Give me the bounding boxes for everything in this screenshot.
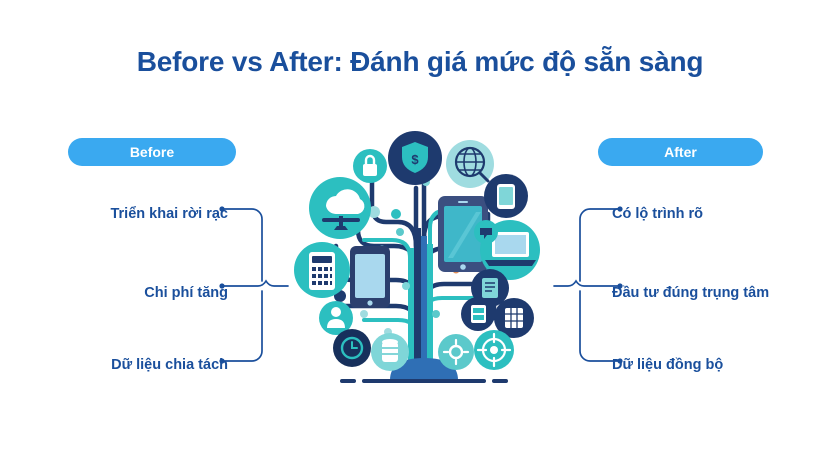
technology-tree-illustration: $ (278, 118, 568, 388)
before-pill: Before (68, 138, 236, 166)
before-item-2-label: Dữ liệu chia tách (111, 355, 228, 375)
lock-icon (353, 149, 387, 183)
slide-canvas: Before vs After: Đánh giá mức độ sẵn sàn… (0, 0, 840, 472)
database-icon (371, 333, 409, 371)
before-pill-label: Before (130, 144, 174, 160)
after-pill: After (598, 138, 763, 166)
after-item-0-label: Có lộ trình rõ (612, 204, 703, 224)
cloud-upload-icon (309, 177, 371, 239)
settings-icon (438, 334, 474, 370)
globe-search-icon (446, 140, 494, 188)
calculator-icon (294, 242, 350, 298)
tree-ground-line (362, 379, 486, 383)
page-title: Before vs After: Đánh giá mức độ sẵn sàn… (0, 46, 840, 78)
before-item-0-label: Triển khai rời rạc (110, 204, 228, 224)
after-item-1-label: Đầu tư đúng trụng tâm (612, 283, 769, 303)
tree-ground-dash-right (492, 379, 508, 383)
tree-ground-dash-left (340, 379, 356, 383)
svg-text:$: $ (411, 152, 419, 167)
before-item-1-label: Chi phí tăng (144, 283, 228, 303)
server-icon (461, 297, 495, 331)
after-pill-label: After (664, 144, 697, 160)
after-item-2-label: Dữ liệu đồng bộ (612, 355, 723, 375)
shield-dollar-icon: $ (388, 131, 442, 185)
speech-bubble-icon (474, 220, 498, 244)
clock-icon (333, 329, 371, 367)
smartphone-icon (350, 246, 390, 308)
target-icon (474, 330, 514, 370)
smartphone-alt-icon (484, 174, 528, 218)
